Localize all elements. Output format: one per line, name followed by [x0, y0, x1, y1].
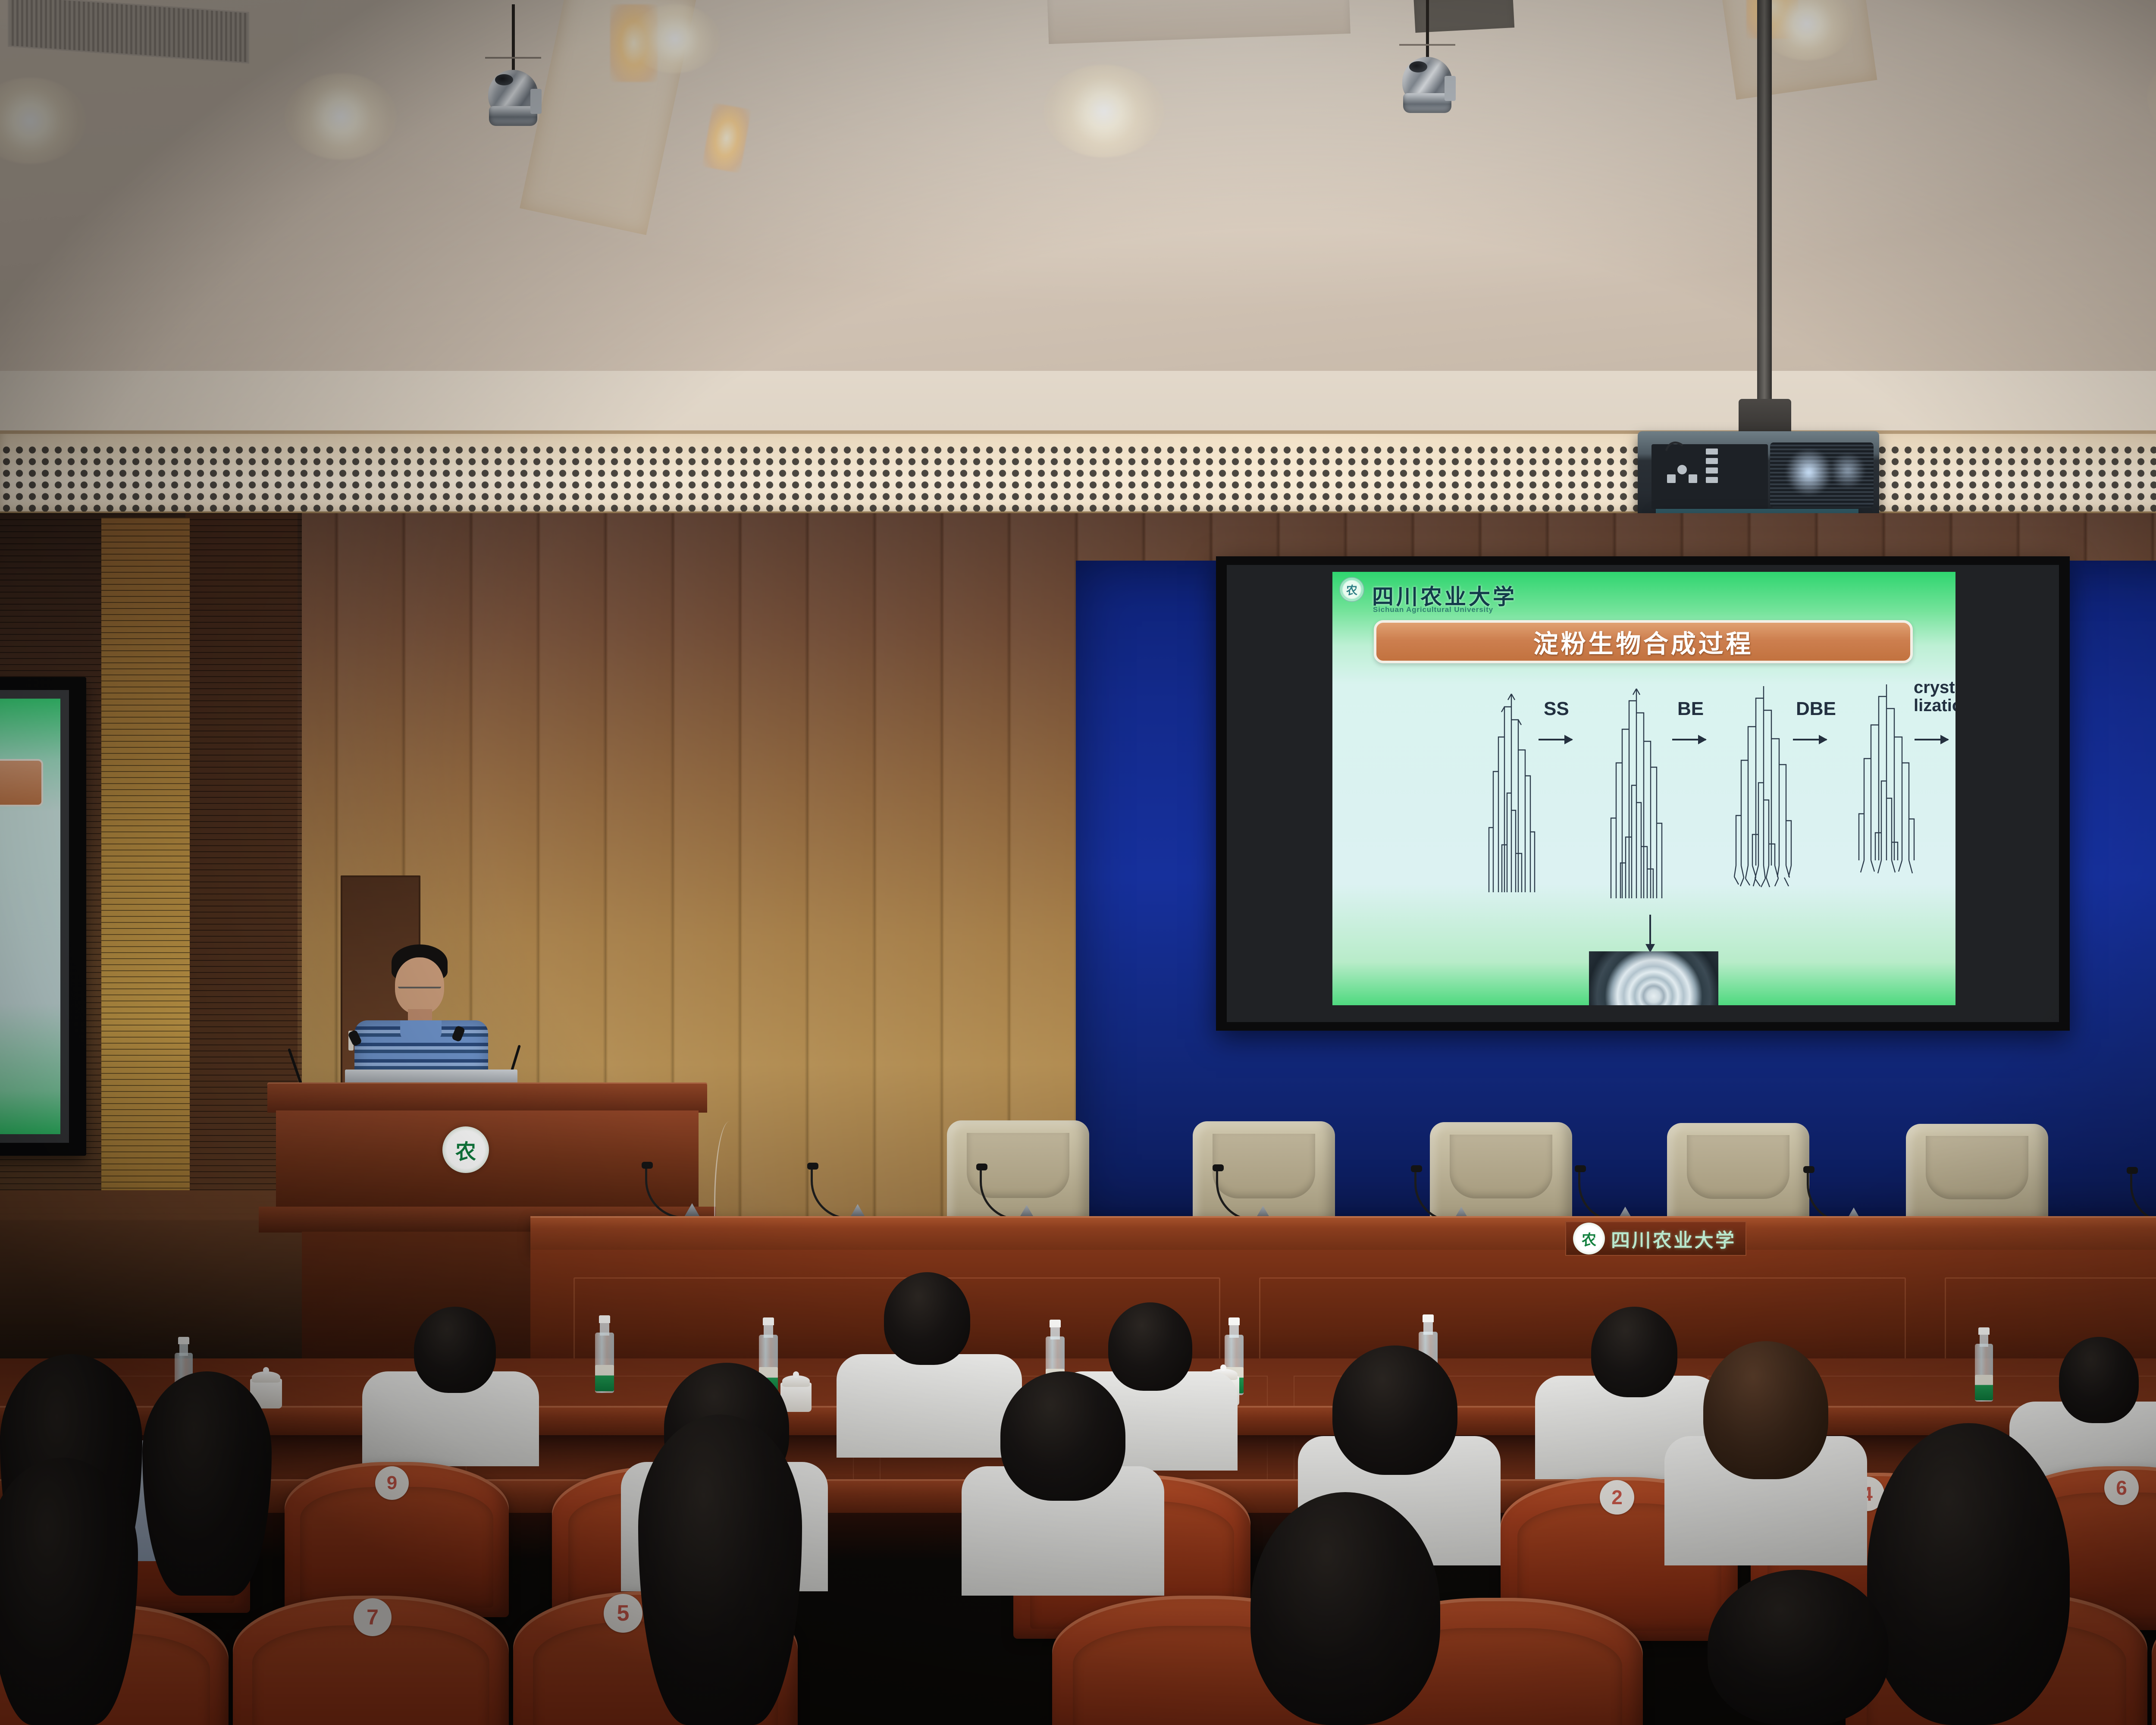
projector-button-1[interactable] — [1706, 448, 1718, 455]
head-table-mic-cap-8 — [2127, 1167, 2138, 1174]
audience-head-back-6 — [2059, 1337, 2139, 1423]
diagram-arrow-3 — [1793, 739, 1827, 740]
audience-head-front-4 — [1867, 1423, 2070, 1725]
audience-head-back-1 — [414, 1307, 496, 1393]
audience-head-back-4 — [1591, 1307, 1677, 1397]
head-table-mic-cap-5 — [1411, 1165, 1422, 1172]
stage-sign-text: 四川农业大学 — [1611, 1225, 1736, 1252]
audience-head-front-6 — [1708, 1570, 1889, 1725]
podium-university-seal: 农 — [442, 1126, 489, 1173]
projector-button-2[interactable] — [1706, 458, 1718, 464]
audience-head-mid-4 — [1000, 1371, 1125, 1501]
slide-title-box: 淀粉生物合成过程 — [1374, 620, 1913, 663]
diagram-arrow-down — [1649, 915, 1651, 945]
downlight-3 — [1044, 65, 1164, 157]
projector-lens-flare-2 — [1830, 452, 1865, 489]
audience-head-back-2 — [884, 1272, 970, 1365]
seat-number-mid-7: 6 — [2104, 1471, 2139, 1505]
stage-sign-logo-mark: 农 — [1582, 1228, 1596, 1249]
glucan-cluster-1 — [1485, 690, 1537, 897]
university-logo-icon: 农 — [1339, 577, 1364, 602]
seat-number-mid-2: 9 — [375, 1466, 409, 1500]
downlight-6 — [630, 4, 720, 73]
diagram-arrow-2 — [1672, 739, 1706, 740]
stage-university-sign: 农 四川农业大学 — [1565, 1221, 1746, 1256]
glucan-cluster-2 — [1608, 686, 1664, 902]
audience-head-mid-6 — [1703, 1341, 1828, 1479]
starch-biosynthesis-diagram: SS BE DBE crystal- lization — [1332, 673, 1955, 915]
seat-number-front-3: 5 — [604, 1594, 642, 1633]
water-bottle-9[interactable] — [1975, 1327, 1993, 1402]
projector-button-4[interactable] — [1706, 477, 1718, 483]
head-table-mic-cap-4 — [1213, 1164, 1224, 1171]
head-table-panel-seam-2 — [1259, 1277, 1906, 1368]
head-table-mic-cap-3 — [976, 1164, 987, 1170]
audience-head-mid-2 — [142, 1371, 272, 1596]
head-table-mic-cap-7 — [1803, 1166, 1814, 1173]
projector-mount-pole — [1757, 0, 1772, 410]
wall-slat-texture-warm — [101, 517, 190, 1190]
downlight-2 — [285, 73, 397, 160]
audience-head-front-3 — [1250, 1492, 1440, 1725]
diagram-step-label-dbe: DBE — [1796, 699, 1836, 719]
audience-shoulders-back-2 — [837, 1354, 1022, 1458]
slide-title: 淀粉生物合成过程 — [1533, 624, 1753, 660]
starch-granule-micrograph — [1589, 951, 1718, 1005]
glucan-cluster-3 — [1733, 684, 1794, 909]
stage-spotlight-2 — [1376, 0, 1479, 160]
diagram-step-label-crystallization: crystal- lization — [1914, 678, 1955, 715]
podium-seal-mark: 农 — [455, 1135, 476, 1165]
diagram-arrow-1 — [1539, 739, 1572, 740]
podium-top — [267, 1082, 707, 1113]
presenter-glasses-icon — [398, 978, 441, 988]
auditorium-photo: 农 四川农业大学 Sichuan Agricultural University… — [0, 0, 2156, 1725]
stage-sign-logo-icon: 农 — [1573, 1223, 1605, 1255]
slide-projection: 农 四川农业大学 Sichuan Agricultural University… — [1332, 572, 1955, 1005]
seat-number-mid-5: 2 — [1600, 1480, 1634, 1515]
head-table-mic-cap-1 — [642, 1162, 653, 1169]
glucan-cluster-4 — [1856, 683, 1917, 903]
audience-head-back-3 — [1108, 1302, 1192, 1391]
head-table-mic-cap-6 — [1575, 1165, 1586, 1172]
diagram-arrow-4 — [1915, 739, 1948, 740]
audience-head-front-1 — [0, 1458, 138, 1725]
diagram-step-label-be: BE — [1677, 699, 1704, 719]
side-display-title-bar — [0, 759, 43, 806]
university-logo-mark: 农 — [1346, 582, 1357, 598]
podium — [276, 1110, 699, 1210]
presenter-collar — [400, 1020, 442, 1041]
seat-number-front-2: 7 — [354, 1598, 392, 1636]
audience-head-mid-5 — [1332, 1345, 1457, 1475]
projector-lens-flare — [1785, 448, 1833, 496]
projector-button-3[interactable] — [1706, 467, 1718, 474]
head-table — [530, 1216, 2156, 1251]
head-table-mic-cap-2 — [807, 1163, 818, 1170]
university-name-en: Sichuan Agricultural University — [1373, 605, 1493, 614]
stage-spotlight-1 — [461, 4, 565, 160]
diagram-step-label-ss: SS — [1544, 699, 1569, 719]
water-bottle-2[interactable] — [595, 1315, 614, 1393]
audience-head-front-2 — [638, 1414, 802, 1725]
